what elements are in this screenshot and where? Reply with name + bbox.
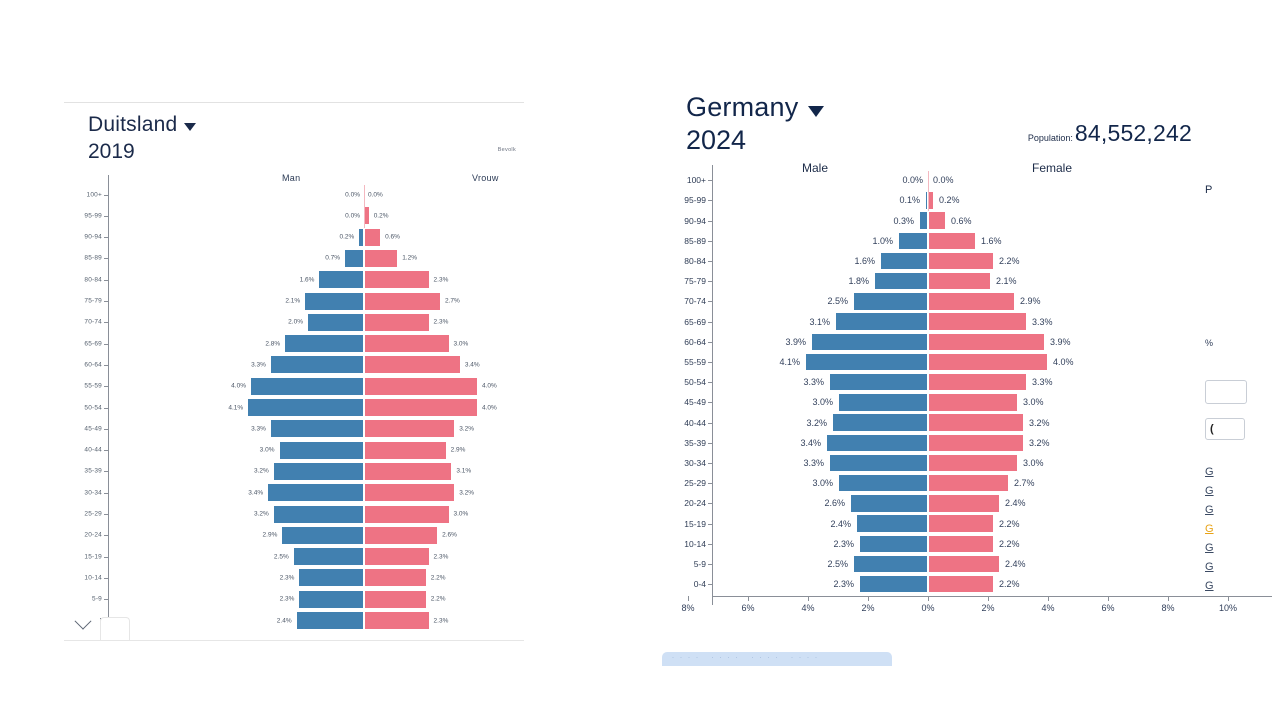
female-bar[interactable] xyxy=(364,590,427,609)
male-value-label: 2.5% xyxy=(827,296,848,306)
female-value-label: 2.1% xyxy=(996,276,1017,286)
age-group-label: 30-34 xyxy=(664,458,706,468)
female-value-label: 3.3% xyxy=(1032,377,1053,387)
male-value-label: 2.3% xyxy=(833,539,854,549)
pyramid-row: 35-393.2%3.1% xyxy=(64,462,524,481)
age-group-label: 35-39 xyxy=(64,468,102,475)
age-group-label: 20-24 xyxy=(664,498,706,508)
male-bar[interactable] xyxy=(838,393,928,411)
pyramid-row: 25-293.2%3.0% xyxy=(64,505,524,524)
age-group-label: 55-59 xyxy=(664,357,706,367)
age-group-label: 65-69 xyxy=(64,340,102,347)
age-group-label: 85-89 xyxy=(64,255,102,262)
female-value-label: 2.2% xyxy=(999,256,1020,266)
female-bar[interactable] xyxy=(364,462,452,481)
pyramid-row: 70-742.0%2.3% xyxy=(64,313,524,332)
axis-tick xyxy=(708,463,712,464)
population-readout: Population: 84,552,242 xyxy=(1028,120,1192,147)
female-bar[interactable] xyxy=(364,249,398,268)
female-value-label: 3.2% xyxy=(459,425,474,432)
female-value-label: 1.6% xyxy=(981,236,1002,246)
male-value-label: 2.5% xyxy=(827,559,848,569)
left-legend-note: Bevolk xyxy=(498,147,516,153)
pyramid-row: 30-343.4%3.2% xyxy=(64,483,524,502)
age-group-label: 10-14 xyxy=(64,574,102,581)
female-bar[interactable] xyxy=(928,333,1045,351)
age-group-label: 20-24 xyxy=(64,532,102,539)
male-bar[interactable] xyxy=(270,419,364,438)
female-bar[interactable] xyxy=(928,413,1024,431)
female-bar[interactable] xyxy=(928,252,994,270)
age-group-label: 70-74 xyxy=(664,296,706,306)
pyramid-row: 90-940.3%0.6% xyxy=(664,211,1280,229)
female-bar[interactable] xyxy=(364,483,455,502)
female-value-label: 3.1% xyxy=(456,468,471,475)
age-group-label: 80-84 xyxy=(664,256,706,266)
female-bar[interactable] xyxy=(364,292,441,311)
axis-tick xyxy=(104,408,108,409)
left-female-header: Vrouw xyxy=(472,173,499,183)
female-bar[interactable] xyxy=(364,228,381,247)
male-bar[interactable] xyxy=(281,526,364,545)
age-group-label: 85-89 xyxy=(664,236,706,246)
age-group-label: 5-9 xyxy=(64,596,102,603)
age-group-label: 25-29 xyxy=(64,511,102,518)
x-axis-tick xyxy=(808,596,809,601)
axis-tick xyxy=(708,362,712,363)
male-bar[interactable] xyxy=(304,292,364,311)
female-value-label: 0.0% xyxy=(368,191,383,198)
female-bar[interactable] xyxy=(364,568,427,587)
male-bar[interactable] xyxy=(247,398,364,417)
female-bar[interactable] xyxy=(928,211,946,229)
female-value-label: 0.0% xyxy=(933,175,954,185)
female-bar[interactable] xyxy=(364,441,447,460)
female-value-label: 2.9% xyxy=(451,447,466,454)
x-axis-tick-label: 6% xyxy=(1101,603,1114,613)
pyramid-row: 20-242.9%2.6% xyxy=(64,526,524,545)
age-group-label: 100+ xyxy=(664,175,706,185)
pyramid-row: 70-742.5%2.9% xyxy=(664,292,1280,310)
female-bar[interactable] xyxy=(928,575,994,593)
sidebar-link[interactable]: G xyxy=(1205,485,1214,497)
x-axis-tick xyxy=(1108,596,1109,601)
axis-tick xyxy=(104,493,108,494)
female-value-label: 2.6% xyxy=(442,532,457,539)
axis-tick xyxy=(708,301,712,302)
left-country-selector[interactable]: Duitsland xyxy=(88,113,524,137)
pyramid-row: 75-792.1%2.7% xyxy=(64,292,524,311)
female-value-label: 2.9% xyxy=(1020,296,1041,306)
right-population-pyramid: Male Female 100+0.0%0.0%95-990.1%0.2%90-… xyxy=(664,165,1280,635)
sidebar-input-field[interactable] xyxy=(1205,380,1247,404)
pyramid-row: 40-443.2%3.2% xyxy=(664,413,1280,431)
x-axis-tick xyxy=(688,596,689,601)
male-bar[interactable] xyxy=(805,353,928,371)
male-value-label: 0.2% xyxy=(339,234,354,241)
pyramid-row: 0-42.4%2.3% xyxy=(64,611,524,630)
female-value-label: 0.6% xyxy=(385,234,400,241)
axis-tick xyxy=(708,180,712,181)
left-scroll-down-button[interactable] xyxy=(66,611,100,637)
axis-tick xyxy=(708,564,712,565)
age-group-label: 90-94 xyxy=(64,234,102,241)
axis-tick xyxy=(708,402,712,403)
age-group-label: 65-69 xyxy=(664,317,706,327)
male-value-label: 2.9% xyxy=(263,532,278,539)
male-bar[interactable] xyxy=(856,514,928,532)
right-x-axis xyxy=(712,596,1272,597)
x-axis-tick xyxy=(1048,596,1049,601)
left-tab-nub xyxy=(100,617,130,640)
female-value-label: 2.2% xyxy=(431,574,446,581)
age-group-label: 40-44 xyxy=(64,447,102,454)
female-bar[interactable] xyxy=(364,355,461,374)
age-group-label: 95-99 xyxy=(64,212,102,219)
female-bar[interactable] xyxy=(364,547,430,566)
x-axis-tick-label: 2% xyxy=(981,603,994,613)
male-bar[interactable] xyxy=(874,272,928,290)
male-value-label: 3.3% xyxy=(251,361,266,368)
female-value-label: 2.3% xyxy=(434,276,449,283)
male-bar[interactable] xyxy=(829,454,928,472)
x-axis-tick-label: 0% xyxy=(921,603,934,613)
male-value-label: 3.4% xyxy=(800,438,821,448)
male-bar[interactable] xyxy=(919,211,928,229)
population-label: Population: xyxy=(1028,133,1073,143)
axis-tick xyxy=(104,280,108,281)
female-bar[interactable] xyxy=(928,312,1027,330)
age-group-label: 45-49 xyxy=(64,425,102,432)
male-bar[interactable] xyxy=(838,474,928,492)
age-group-label: 30-34 xyxy=(64,489,102,496)
female-bar[interactable] xyxy=(928,555,1000,573)
female-value-label: 3.0% xyxy=(454,511,469,518)
female-bar[interactable] xyxy=(364,377,478,396)
male-value-label: 3.3% xyxy=(251,425,266,432)
axis-tick xyxy=(708,503,712,504)
male-bar[interactable] xyxy=(835,312,928,330)
sidebar-link[interactable]: G xyxy=(1205,580,1214,592)
male-value-label: 3.2% xyxy=(254,468,269,475)
left-panel-header: Duitsland 2019 Bevolk xyxy=(64,103,524,165)
center-stem xyxy=(364,185,365,228)
pyramid-row: 45-493.3%3.2% xyxy=(64,419,524,438)
left-country-name: Duitsland xyxy=(88,113,177,137)
left-year-label: 2019 xyxy=(88,139,524,165)
pyramid-row: 60-643.3%3.4% xyxy=(64,355,524,374)
right-panel-header: Germany 2024 Population: 84,552,242 xyxy=(664,78,1280,157)
pyramid-row: 80-841.6%2.3% xyxy=(64,270,524,289)
axis-tick xyxy=(708,423,712,424)
female-bar[interactable] xyxy=(928,454,1018,472)
x-axis-tick-label: 6% xyxy=(741,603,754,613)
female-value-label: 4.0% xyxy=(1053,357,1074,367)
male-value-label: 3.2% xyxy=(254,511,269,518)
female-bar[interactable] xyxy=(928,292,1015,310)
female-value-label: 0.2% xyxy=(374,212,389,219)
female-bar[interactable] xyxy=(364,270,430,289)
male-value-label: 3.0% xyxy=(812,478,833,488)
male-bar[interactable] xyxy=(318,270,364,289)
age-group-label: 35-39 xyxy=(664,438,706,448)
age-group-label: 75-79 xyxy=(64,298,102,305)
pyramid-row: 25-293.0%2.7% xyxy=(664,474,1280,492)
pyramid-row: 15-192.4%2.2% xyxy=(664,514,1280,532)
axis-tick xyxy=(104,365,108,366)
female-bar[interactable] xyxy=(928,494,1000,512)
age-group-label: 5-9 xyxy=(664,559,706,569)
female-value-label: 1.2% xyxy=(402,255,417,262)
male-value-label: 1.6% xyxy=(300,276,315,283)
female-value-label: 3.9% xyxy=(1050,337,1071,347)
age-group-label: 90-94 xyxy=(664,216,706,226)
female-bar[interactable] xyxy=(928,535,994,553)
axis-tick xyxy=(104,578,108,579)
axis-tick xyxy=(104,471,108,472)
axis-tick xyxy=(708,443,712,444)
x-axis-tick xyxy=(1168,596,1169,601)
female-value-label: 2.7% xyxy=(1014,478,1035,488)
female-bar[interactable] xyxy=(928,232,976,250)
pyramid-row: 100+0.0%0.0% xyxy=(64,185,524,204)
age-group-label: 10-14 xyxy=(664,539,706,549)
female-bar[interactable] xyxy=(928,514,994,532)
male-value-label: 3.2% xyxy=(806,418,827,428)
sidebar-link[interactable]: G xyxy=(1205,466,1214,478)
x-axis-tick xyxy=(868,596,869,601)
male-bar[interactable] xyxy=(880,252,928,270)
center-stem xyxy=(928,171,929,211)
axis-tick xyxy=(708,221,712,222)
male-value-label: 0.7% xyxy=(325,255,340,262)
female-bar[interactable] xyxy=(364,398,478,417)
female-value-label: 2.2% xyxy=(999,539,1020,549)
male-bar[interactable] xyxy=(826,434,928,452)
sidebar-link[interactable]: G xyxy=(1205,523,1214,535)
male-bar[interactable] xyxy=(829,373,928,391)
axis-tick xyxy=(104,216,108,217)
female-bar[interactable] xyxy=(928,373,1027,391)
pyramid-row: 95-990.1%0.2% xyxy=(664,191,1280,209)
pyramid-row: 90-940.2%0.6% xyxy=(64,228,524,247)
female-value-label: 4.0% xyxy=(482,383,497,390)
male-bar[interactable] xyxy=(250,377,364,396)
female-bar[interactable] xyxy=(364,313,430,332)
sidebar-percent-label: % xyxy=(1205,338,1213,348)
pyramid-row: 5-92.5%2.4% xyxy=(664,555,1280,573)
axis-tick xyxy=(104,301,108,302)
male-bar[interactable] xyxy=(279,441,365,460)
axis-tick xyxy=(708,200,712,201)
male-bar[interactable] xyxy=(284,334,364,353)
screenshot-root: Duitsland 2019 Bevolk Man Vrouw 100+0.0%… xyxy=(0,0,1280,720)
x-axis-tick-label: 10% xyxy=(1219,603,1237,613)
male-bar[interactable] xyxy=(273,462,364,481)
male-bar[interactable] xyxy=(270,355,364,374)
male-bar[interactable] xyxy=(859,575,928,593)
male-bar[interactable] xyxy=(859,535,928,553)
female-value-label: 0.2% xyxy=(939,195,960,205)
male-bar[interactable] xyxy=(853,292,928,310)
male-value-label: 2.3% xyxy=(833,579,854,589)
age-group-label: 50-54 xyxy=(64,404,102,411)
male-value-label: 3.3% xyxy=(803,458,824,468)
male-bar[interactable] xyxy=(853,555,928,573)
sidebar-p-text: P xyxy=(1205,184,1212,196)
male-value-label: 0.0% xyxy=(345,191,360,198)
male-value-label: 2.6% xyxy=(824,498,845,508)
female-bar[interactable] xyxy=(364,505,450,524)
left-population-pyramid: Man Vrouw 100+0.0%0.0%95-990.0%0.2%90-94… xyxy=(64,175,524,627)
pyramid-row: 10-142.3%2.2% xyxy=(64,568,524,587)
age-group-label: 40-44 xyxy=(664,418,706,428)
pyramid-row: 5-92.3%2.2% xyxy=(64,590,524,609)
x-axis-tick-label: 8% xyxy=(681,603,694,613)
axis-tick xyxy=(104,429,108,430)
caret-down-icon[interactable] xyxy=(808,106,824,117)
female-value-label: 2.4% xyxy=(1005,559,1026,569)
male-value-label: 0.0% xyxy=(345,212,360,219)
female-value-label: 2.7% xyxy=(445,298,460,305)
male-value-label: 2.8% xyxy=(265,340,280,347)
axis-tick xyxy=(708,584,712,585)
female-value-label: 3.4% xyxy=(465,361,480,368)
axis-tick xyxy=(104,599,108,600)
x-axis-tick-label: 2% xyxy=(861,603,874,613)
pyramid-row: 35-393.4%3.2% xyxy=(664,434,1280,452)
age-group-label: 60-64 xyxy=(664,337,706,347)
pyramid-row: 85-890.7%1.2% xyxy=(64,249,524,268)
pyramid-row: 65-692.8%3.0% xyxy=(64,334,524,353)
sidebar-link[interactable]: G xyxy=(1205,561,1214,573)
axis-tick xyxy=(104,237,108,238)
pyramid-row: 55-594.1%4.0% xyxy=(664,353,1280,371)
male-value-label: 1.8% xyxy=(848,276,869,286)
male-value-label: 4.1% xyxy=(779,357,800,367)
age-group-label: 15-19 xyxy=(64,553,102,560)
pyramid-row: 20-242.6%2.4% xyxy=(664,494,1280,512)
axis-tick xyxy=(708,483,712,484)
female-bar[interactable] xyxy=(928,393,1018,411)
female-value-label: 0.6% xyxy=(951,216,972,226)
pyramid-row: 95-990.0%0.2% xyxy=(64,206,524,225)
bottom-toolbar-text: ···· ···· ···· ···· xyxy=(672,655,892,665)
age-group-label: 100+ xyxy=(64,191,102,198)
pyramid-row: 45-493.0%3.0% xyxy=(664,393,1280,411)
pyramid-row: 30-343.3%3.0% xyxy=(664,454,1280,472)
sidebar-link[interactable]: G xyxy=(1205,504,1214,516)
female-value-label: 3.0% xyxy=(1023,397,1044,407)
age-group-label: 60-64 xyxy=(64,361,102,368)
male-value-label: 2.3% xyxy=(280,596,295,603)
left-pyramid-panel: Duitsland 2019 Bevolk Man Vrouw 100+0.0%… xyxy=(64,102,524,641)
female-value-label: 4.0% xyxy=(482,404,497,411)
age-group-label: 50-54 xyxy=(664,377,706,387)
pyramid-row: 80-841.6%2.2% xyxy=(664,252,1280,270)
axis-tick xyxy=(708,524,712,525)
female-value-label: 3.2% xyxy=(1029,418,1050,428)
male-bar[interactable] xyxy=(811,333,928,351)
male-bar[interactable] xyxy=(298,568,364,587)
female-bar[interactable] xyxy=(364,334,450,353)
axis-tick xyxy=(104,195,108,196)
male-value-label: 2.1% xyxy=(285,298,300,305)
age-group-label: 55-59 xyxy=(64,383,102,390)
female-value-label: 2.2% xyxy=(999,519,1020,529)
chevron-down-icon xyxy=(75,613,92,630)
male-value-label: 2.4% xyxy=(277,617,292,624)
female-bar[interactable] xyxy=(364,526,438,545)
male-bar[interactable] xyxy=(898,232,928,250)
male-bar[interactable] xyxy=(296,611,364,630)
female-bar[interactable] xyxy=(928,434,1024,452)
right-country-name: Germany xyxy=(686,92,798,122)
pyramid-row: 50-544.1%4.0% xyxy=(64,398,524,417)
right-country-selector[interactable]: Germany xyxy=(686,92,1280,122)
age-group-label: 75-79 xyxy=(664,276,706,286)
male-bar[interactable] xyxy=(298,590,364,609)
axis-tick xyxy=(708,544,712,545)
male-value-label: 1.0% xyxy=(872,236,893,246)
male-value-label: 0.0% xyxy=(902,175,923,185)
axis-tick xyxy=(708,382,712,383)
axis-tick xyxy=(708,241,712,242)
male-bar[interactable] xyxy=(832,413,928,431)
age-group-label: 45-49 xyxy=(664,397,706,407)
female-bar[interactable] xyxy=(928,353,1048,371)
male-value-label: 1.6% xyxy=(854,256,875,266)
male-bar[interactable] xyxy=(344,249,364,268)
axis-tick xyxy=(104,514,108,515)
male-value-label: 0.3% xyxy=(893,216,914,226)
male-value-label: 3.3% xyxy=(803,377,824,387)
female-value-label: 3.3% xyxy=(1032,317,1053,327)
pyramid-row: 15-192.5%2.3% xyxy=(64,547,524,566)
male-value-label: 3.1% xyxy=(809,317,830,327)
x-axis-tick-label: 4% xyxy=(1041,603,1054,613)
left-male-header: Man xyxy=(282,173,300,183)
left-panel-bottom-divider xyxy=(64,640,524,641)
pyramid-row: 0-42.3%2.2% xyxy=(664,575,1280,593)
axis-tick xyxy=(708,281,712,282)
female-bar[interactable] xyxy=(364,611,430,630)
sidebar-value-field[interactable]: ( xyxy=(1205,418,1245,440)
sidebar-link[interactable]: G xyxy=(1205,542,1214,554)
male-bar[interactable] xyxy=(273,505,364,524)
male-bar[interactable] xyxy=(850,494,928,512)
female-bar[interactable] xyxy=(928,272,991,290)
age-group-label: 70-74 xyxy=(64,319,102,326)
female-value-label: 2.2% xyxy=(431,596,446,603)
female-bar[interactable] xyxy=(928,474,1009,492)
male-value-label: 2.4% xyxy=(830,519,851,529)
female-value-label: 3.0% xyxy=(1023,458,1044,468)
female-bar[interactable] xyxy=(364,419,455,438)
male-bar[interactable] xyxy=(307,313,364,332)
axis-tick xyxy=(104,258,108,259)
male-bar[interactable] xyxy=(293,547,364,566)
pyramid-row: 10-142.3%2.2% xyxy=(664,535,1280,553)
caret-down-icon[interactable] xyxy=(184,123,196,131)
male-value-label: 0.1% xyxy=(899,195,920,205)
axis-tick xyxy=(104,322,108,323)
axis-tick xyxy=(708,261,712,262)
male-bar[interactable] xyxy=(267,483,364,502)
pyramid-row: 50-543.3%3.3% xyxy=(664,373,1280,391)
age-group-label: 25-29 xyxy=(664,478,706,488)
age-group-label: 95-99 xyxy=(664,195,706,205)
